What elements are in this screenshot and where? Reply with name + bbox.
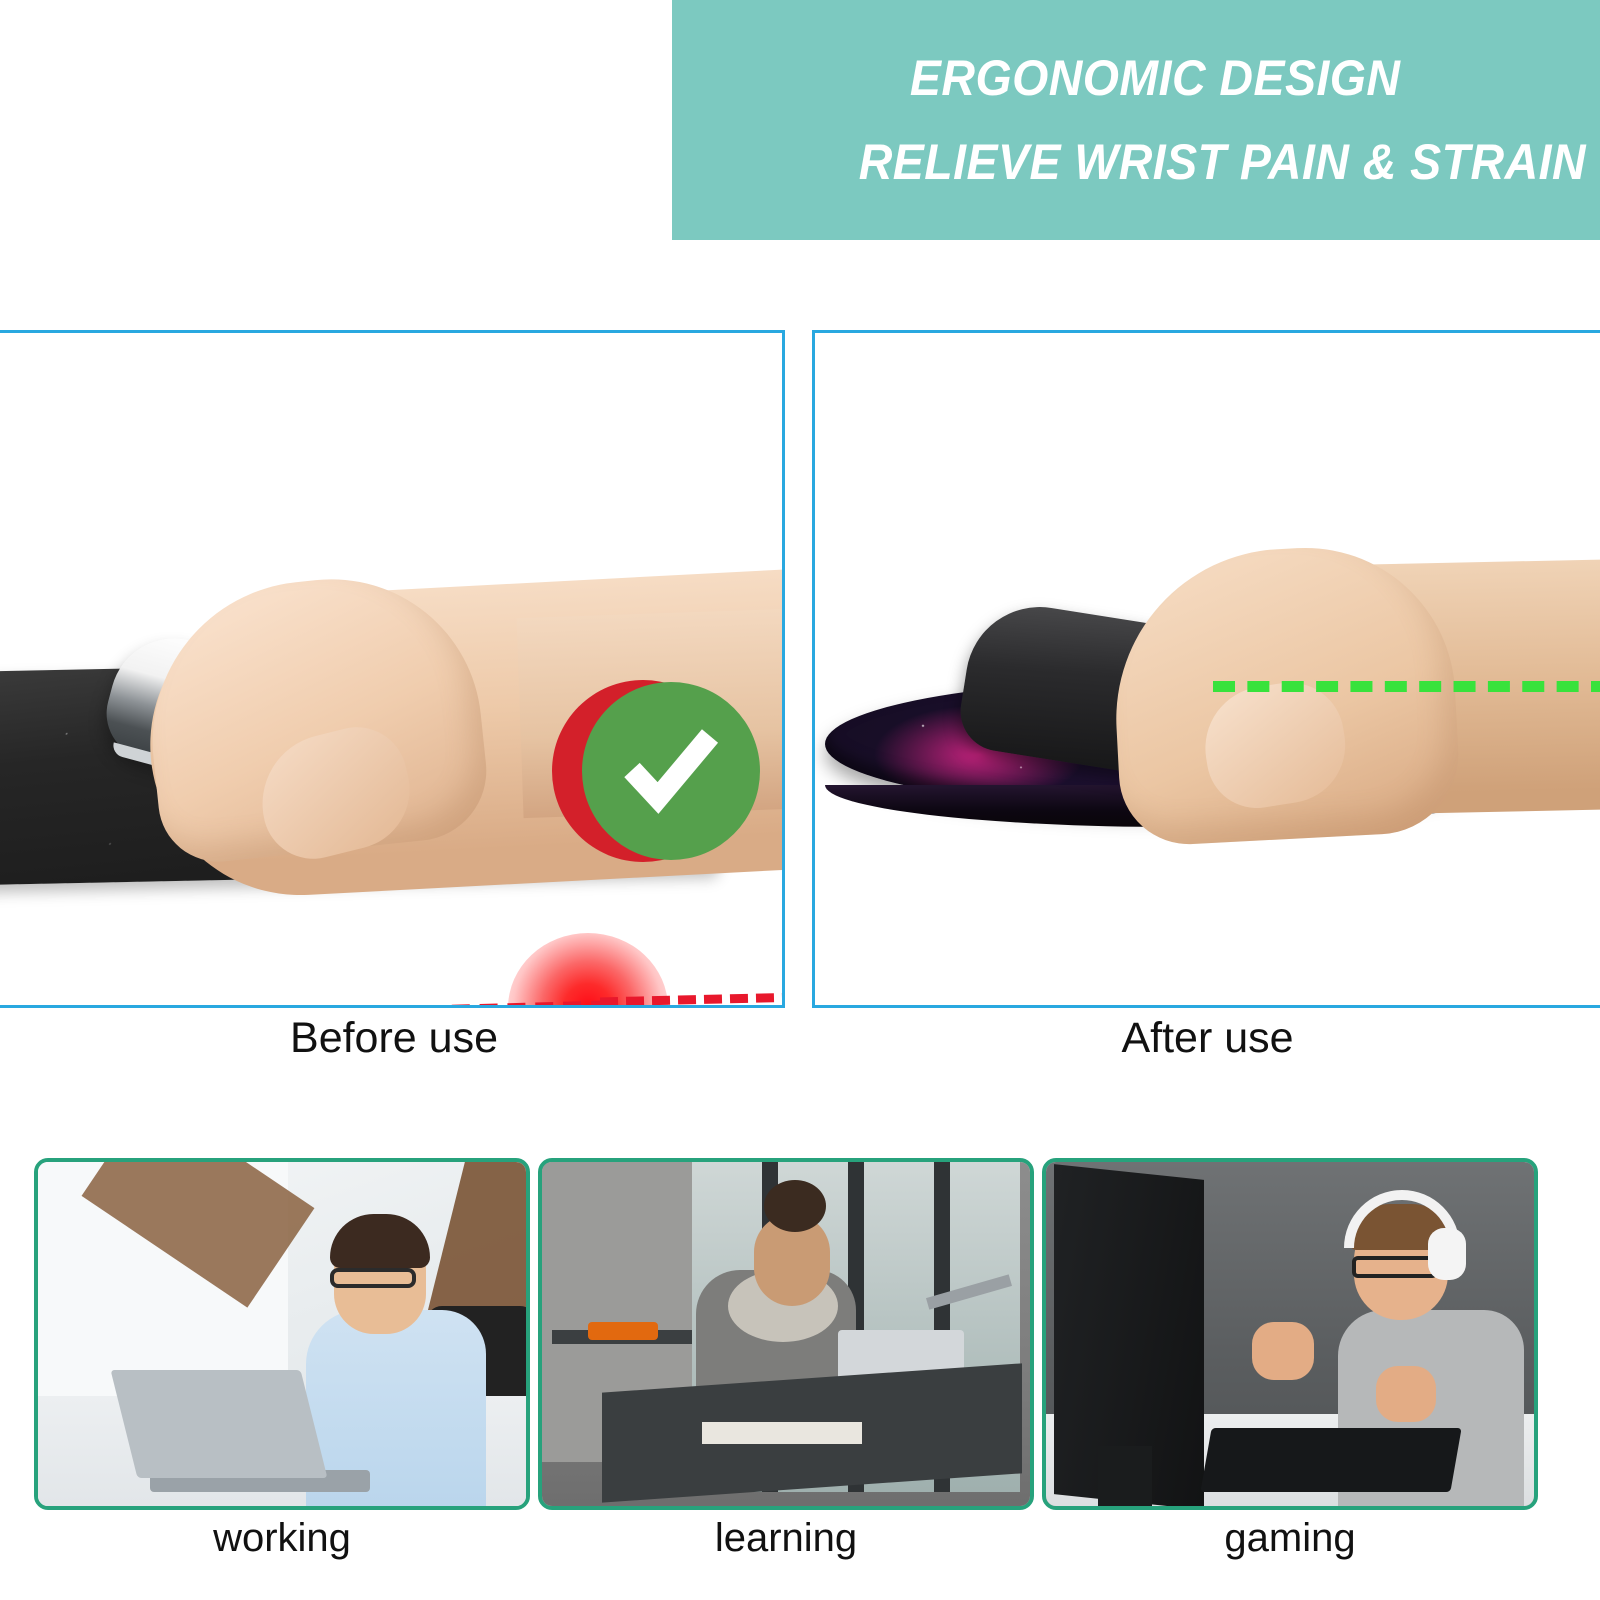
usecase-label-working: working <box>34 1516 530 1561</box>
before-use-caption: Before use <box>0 1014 788 1063</box>
usecase-photo-learning <box>542 1162 1030 1506</box>
usecase-photo-working <box>38 1162 526 1506</box>
usecase-card-gaming <box>1042 1158 1538 1510</box>
wrist-pain-marker-icon <box>508 933 668 1005</box>
usecase-section: working learning gaming <box>0 1158 1600 1600</box>
after-use-panel <box>812 330 1600 1008</box>
usecase-label-learning: learning <box>538 1516 1034 1561</box>
green-dashed-posture-line <box>1213 681 1600 692</box>
after-use-caption: After use <box>812 1014 1600 1063</box>
header-headline-secondary: RELIEVE WRIST PAIN & STRAIN <box>859 137 1586 187</box>
header-banner: ERGONOMIC DESIGN RELIEVE WRIST PAIN & ST… <box>672 0 1600 240</box>
comparison-section: Before use After use <box>0 330 1600 1090</box>
before-use-photo <box>0 333 782 1005</box>
usecase-card-working <box>34 1158 530 1510</box>
check-icon <box>582 682 760 860</box>
before-use-panel <box>0 330 785 1008</box>
header-headline-primary: ERGONOMIC DESIGN <box>909 53 1586 103</box>
usecase-card-learning <box>538 1158 1034 1510</box>
after-use-photo <box>815 333 1600 1005</box>
usecase-photo-gaming <box>1046 1162 1534 1506</box>
usecase-label-gaming: gaming <box>1042 1516 1538 1561</box>
